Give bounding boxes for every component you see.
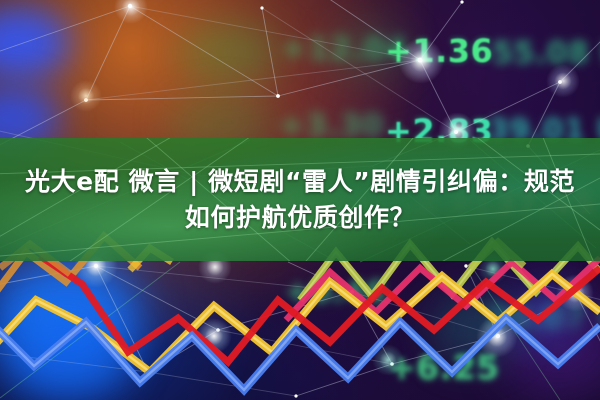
banner-title: 光大e配 微言 | 微短剧“雷人”剧情引纠偏：规范 如何护航优质创作？ xyxy=(0,138,600,261)
title-line-1: 光大e配 微言 | 微短剧“雷人”剧情引纠偏：规范 xyxy=(25,166,575,198)
chart-line-blue xyxy=(0,318,600,390)
title-line-2: 如何护航优质创作？ xyxy=(185,202,415,234)
banner-image: +12.04 +3.30 +1.36 +2.83 55.08 U 39.01 U… xyxy=(0,0,600,400)
